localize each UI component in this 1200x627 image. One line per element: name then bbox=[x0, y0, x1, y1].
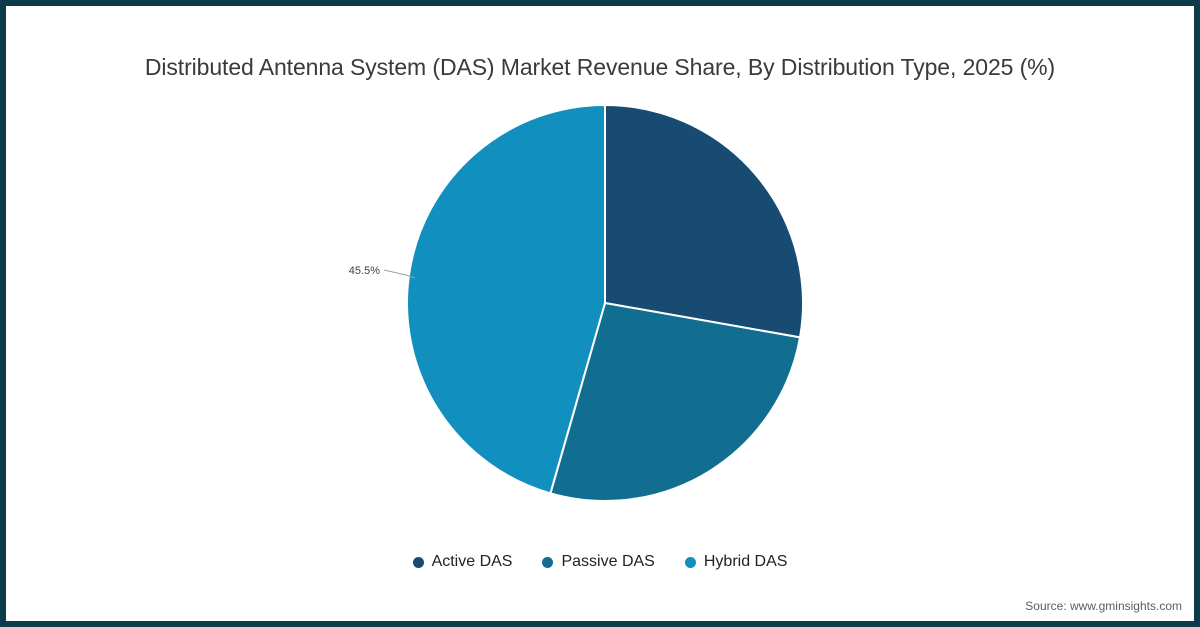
slice-value-label: 45.5% bbox=[349, 265, 380, 277]
legend-item-label: Hybrid DAS bbox=[704, 553, 788, 571]
pie-slice[interactable] bbox=[407, 105, 605, 493]
legend-marker-icon bbox=[685, 557, 696, 568]
pie-slices bbox=[407, 105, 803, 501]
legend-marker-icon bbox=[542, 557, 553, 568]
legend-item-label: Active DAS bbox=[432, 553, 513, 571]
legend-item-hybrid-das[interactable]: Hybrid DAS bbox=[685, 553, 788, 571]
legend-item-passive-das[interactable]: Passive DAS bbox=[542, 553, 654, 571]
source-note: Source: www.gminsights.com bbox=[1025, 599, 1182, 613]
chart-figure: Distributed Antenna System (DAS) Market … bbox=[0, 0, 1200, 627]
slice-callout: 45.5% bbox=[349, 265, 415, 278]
pie-slice[interactable] bbox=[550, 303, 800, 501]
legend-marker-icon bbox=[413, 557, 424, 568]
callout-leader-line bbox=[384, 270, 415, 278]
chart-legend: Active DAS Passive DAS Hybrid DAS bbox=[6, 553, 1194, 571]
legend-item-active-das[interactable]: Active DAS bbox=[413, 553, 513, 571]
pie-slice[interactable] bbox=[605, 105, 803, 337]
pie-chart-svg: 45.5% bbox=[6, 6, 1194, 621]
page-title: Distributed Antenna System (DAS) Market … bbox=[6, 54, 1194, 81]
legend-item-label: Passive DAS bbox=[561, 553, 654, 571]
pie-chart-area: 45.5% bbox=[6, 6, 1194, 621]
